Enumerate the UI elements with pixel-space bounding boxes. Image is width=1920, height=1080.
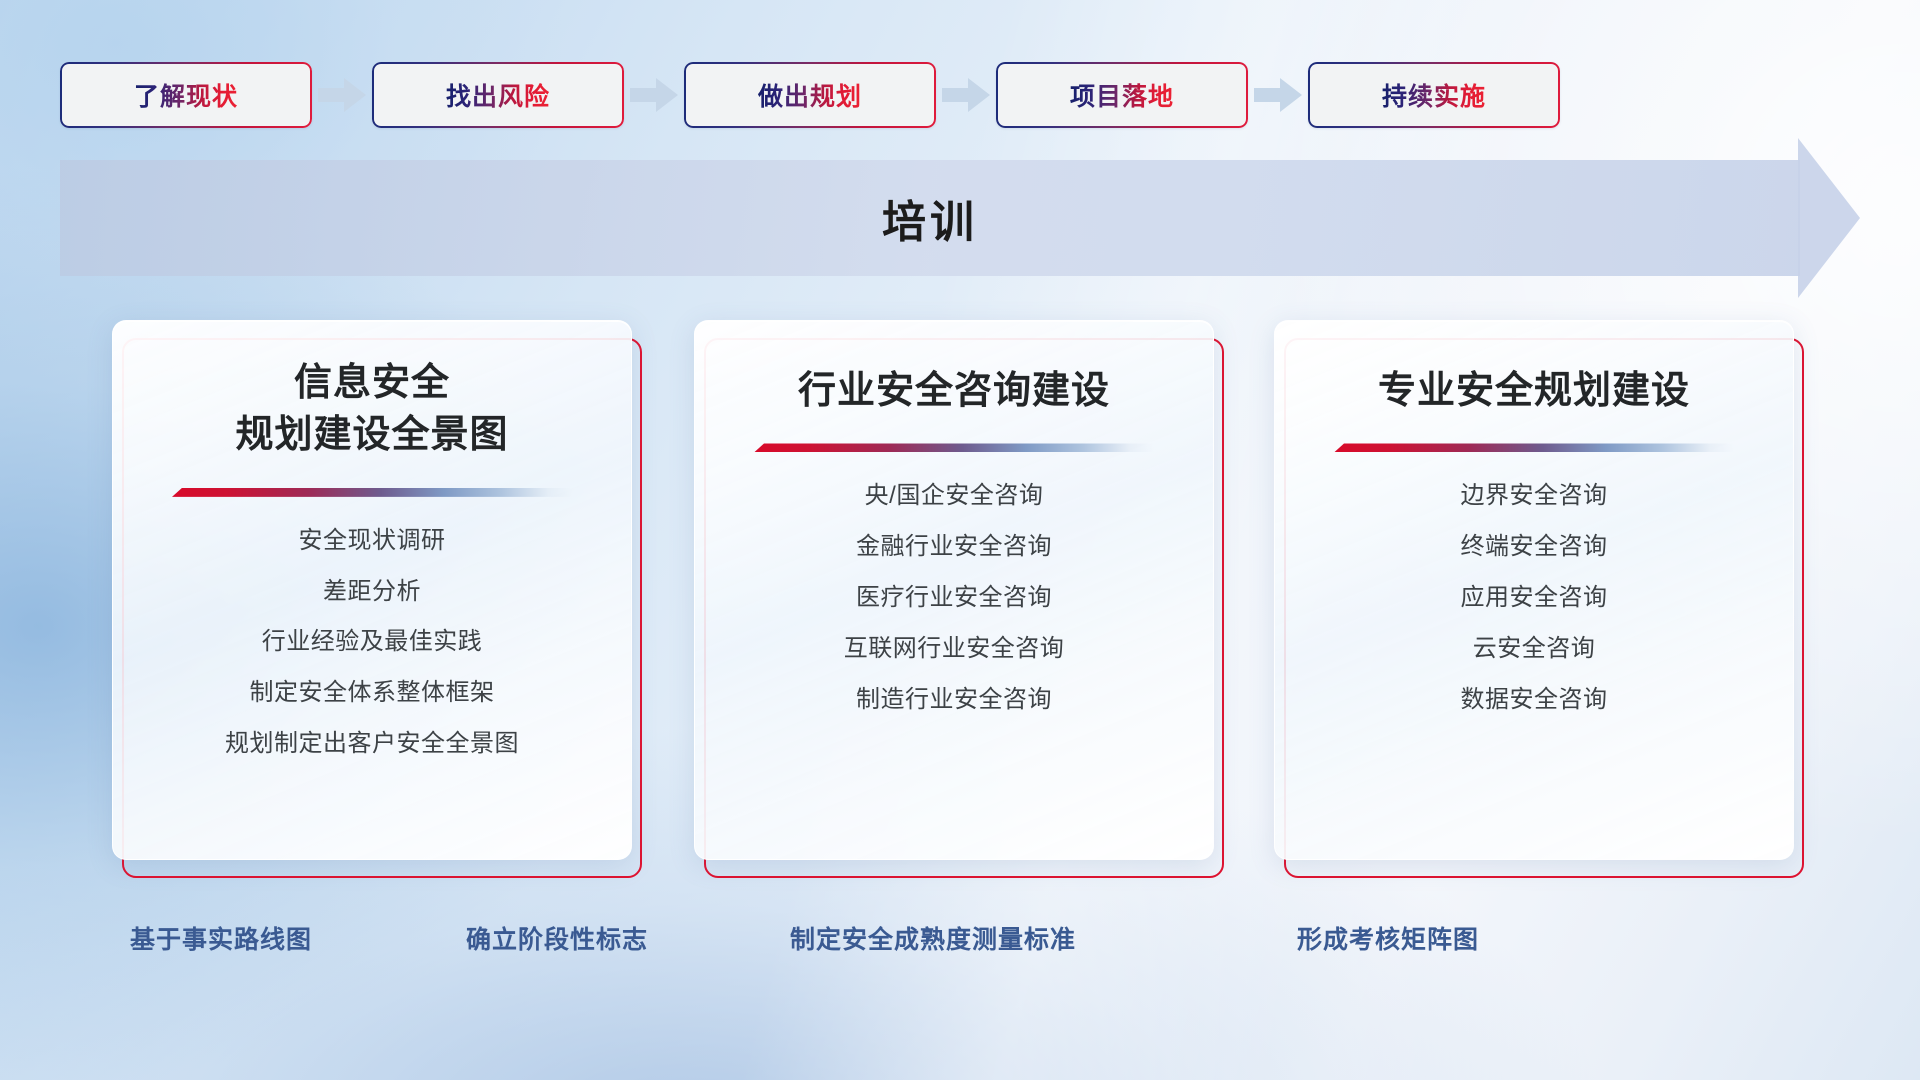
arrow-right-icon: [312, 75, 372, 115]
list-item: 数据安全咨询: [1461, 686, 1608, 715]
footnote-1: 基于事实路线图: [130, 920, 312, 956]
step-label: 持续实施: [1382, 77, 1486, 113]
list-item: 边界安全咨询: [1461, 482, 1608, 511]
list-item: 央/国企安全咨询: [865, 482, 1044, 511]
list-item: 金融行业安全咨询: [856, 533, 1052, 562]
gradient-accent-bar: [172, 488, 572, 497]
list-item: 行业经验及最佳实践: [262, 628, 483, 657]
banner-arrowhead-icon: [1798, 138, 1860, 298]
card-title: 行业安全咨询建设: [798, 365, 1110, 417]
card-1[interactable]: 信息安全 规划建设全景图 安全现状调研 差距分析 行业经验及最佳实践 制定安全体…: [112, 320, 642, 880]
step-box-2[interactable]: 找出风险: [372, 62, 624, 128]
card-item-list: 央/国企安全咨询 金融行业安全咨询 医疗行业安全咨询 互联网行业安全咨询 制造行…: [695, 482, 1213, 736]
step-label: 项目落地: [1070, 77, 1174, 113]
list-item: 制定安全体系整体框架: [250, 679, 495, 708]
arrow-right-icon: [1248, 75, 1308, 115]
card-item-list: 边界安全咨询 终端安全咨询 应用安全咨询 云安全咨询 数据安全咨询: [1275, 482, 1793, 736]
gradient-accent-bar: [1334, 443, 1734, 452]
list-item: 规划制定出客户安全全景图: [225, 730, 519, 759]
footnote-4: 形成考核矩阵图: [1297, 920, 1479, 956]
list-item: 医疗行业安全咨询: [856, 584, 1052, 613]
step-label: 做出规划: [758, 77, 862, 113]
list-item: 差距分析: [323, 578, 421, 607]
training-banner: 培训: [60, 160, 1860, 276]
footnote-2: 确立阶段性标志: [466, 920, 648, 956]
card-panel[interactable]: 专业安全规划建设 边界安全咨询 终端安全咨询 应用安全咨询 云安全咨询 数据安全…: [1274, 320, 1794, 860]
step-box-5[interactable]: 持续实施: [1308, 62, 1560, 128]
step-label: 了解现状: [134, 77, 238, 113]
footnote-row: 基于事实路线图 确立阶段性标志 制定安全成熟度测量标准 形成考核矩阵图: [0, 920, 1920, 970]
process-step-row: 了解现状 找出风险 做出规划 项目落地: [60, 62, 1860, 128]
card-row: 信息安全 规划建设全景图 安全现状调研 差距分析 行业经验及最佳实践 制定安全体…: [0, 320, 1920, 880]
card-panel[interactable]: 信息安全 规划建设全景图 安全现状调研 差距分析 行业经验及最佳实践 制定安全体…: [112, 320, 632, 860]
step-box-3[interactable]: 做出规划: [684, 62, 936, 128]
list-item: 制造行业安全咨询: [856, 686, 1052, 715]
slide-stage: 了解现状 找出风险 做出规划 项目落地: [0, 0, 1920, 1080]
step-box-4[interactable]: 项目落地: [996, 62, 1248, 128]
card-title: 信息安全 规划建设全景图: [235, 357, 508, 462]
list-item: 终端安全咨询: [1461, 533, 1608, 562]
gradient-accent-bar: [754, 443, 1154, 452]
step-box-1[interactable]: 了解现状: [60, 62, 312, 128]
step-label: 找出风险: [446, 77, 550, 113]
list-item: 安全现状调研: [299, 527, 446, 556]
footnote-3: 制定安全成熟度测量标准: [790, 920, 1076, 956]
arrow-right-icon: [936, 75, 996, 115]
list-item: 云安全咨询: [1473, 635, 1596, 664]
card-panel[interactable]: 行业安全咨询建设 央/国企安全咨询 金融行业安全咨询 医疗行业安全咨询 互联网行…: [694, 320, 1214, 860]
card-3[interactable]: 专业安全规划建设 边界安全咨询 终端安全咨询 应用安全咨询 云安全咨询 数据安全…: [1274, 320, 1804, 880]
card-item-list: 安全现状调研 差距分析 行业经验及最佳实践 制定安全体系整体框架 规划制定出客户…: [113, 527, 631, 781]
arrow-right-icon: [624, 75, 684, 115]
list-item: 应用安全咨询: [1461, 584, 1608, 613]
list-item: 互联网行业安全咨询: [844, 635, 1065, 664]
card-title: 专业安全规划建设: [1378, 365, 1690, 417]
banner-title: 培训: [60, 160, 1800, 276]
card-2[interactable]: 行业安全咨询建设 央/国企安全咨询 金融行业安全咨询 医疗行业安全咨询 互联网行…: [694, 320, 1224, 880]
